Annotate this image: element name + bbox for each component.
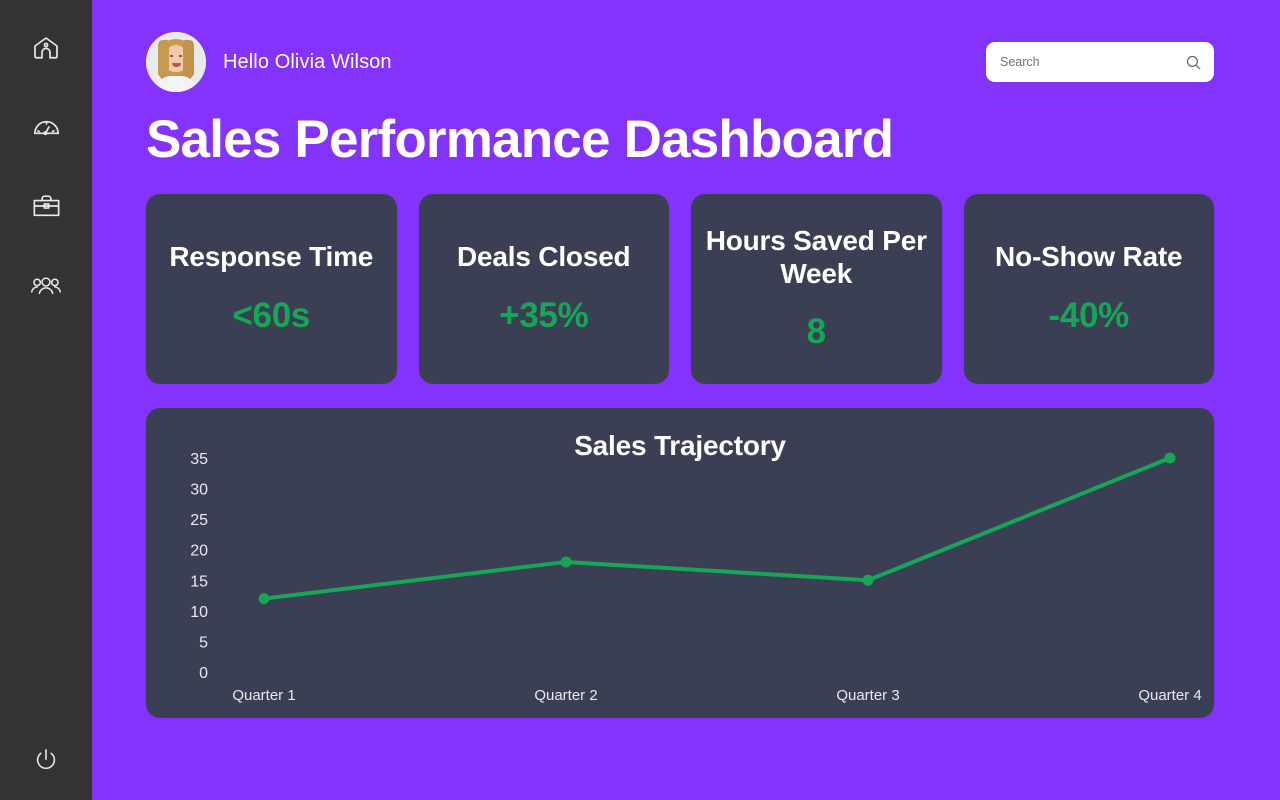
search-input[interactable]: [1000, 55, 1185, 69]
main-content: Hello Olivia Wilson Sales Performance Da…: [92, 0, 1280, 800]
stat-card-value: <60s: [232, 296, 310, 336]
stat-card-deals-closed: Deals Closed +35%: [419, 194, 670, 384]
search-box[interactable]: [986, 42, 1214, 82]
sales-trajectory-chart: Sales Trajectory 35302520151050Quarter 1…: [146, 408, 1214, 718]
avatar: [146, 32, 206, 92]
power-icon: [32, 746, 60, 774]
x-axis-tick: Quarter 2: [534, 687, 597, 704]
y-axis-tick: 30: [190, 481, 208, 498]
stat-card-hours-saved: Hours Saved Per Week 8: [691, 194, 942, 384]
y-axis-tick: 35: [190, 451, 208, 468]
y-axis-tick: 0: [199, 665, 208, 682]
chart-data-point[interactable]: [863, 574, 874, 585]
x-axis-tick: Quarter 1: [232, 687, 295, 704]
chart-data-point[interactable]: [259, 593, 270, 604]
sidebar-item-briefcase[interactable]: [24, 184, 68, 228]
x-axis-tick: Quarter 4: [1138, 687, 1201, 704]
y-axis-tick: 10: [190, 603, 208, 620]
app-root: Hello Olivia Wilson Sales Performance Da…: [0, 0, 1280, 800]
sidebar-item-dashboard[interactable]: [24, 105, 68, 149]
sidebar-nav: [24, 0, 68, 342]
topbar: Hello Olivia Wilson: [146, 0, 1214, 92]
x-axis-tick: Quarter 3: [836, 687, 899, 704]
sidebar-item-home[interactable]: [24, 26, 68, 70]
search-icon[interactable]: [1185, 54, 1202, 71]
y-axis-tick: 25: [190, 512, 208, 529]
stat-card-label: Hours Saved Per Week: [701, 225, 932, 290]
page-title: Sales Performance Dashboard: [146, 112, 1214, 168]
sidebar-item-logout[interactable]: [24, 738, 68, 782]
y-axis-tick: 15: [190, 573, 208, 590]
stat-card-label: Deals Closed: [457, 241, 630, 273]
sidebar-item-users[interactable]: [24, 263, 68, 307]
sidebar: [0, 0, 92, 800]
chart-data-point[interactable]: [1165, 452, 1176, 463]
greeting-text: Hello Olivia Wilson: [223, 51, 392, 74]
y-axis-tick: 5: [199, 634, 208, 651]
stat-card-no-show-rate: No-Show Rate -40%: [964, 194, 1215, 384]
chart-line: [264, 458, 1170, 599]
sidebar-bottom: [0, 738, 92, 782]
chart-plot: 35302520151050Quarter 1Quarter 2Quarter …: [146, 408, 1214, 718]
briefcase-icon: [31, 191, 62, 222]
stat-cards: Response Time <60s Deals Closed +35% Hou…: [146, 194, 1214, 384]
stat-card-value: 8: [807, 312, 826, 352]
stat-card-label: No-Show Rate: [995, 241, 1182, 273]
y-axis-tick: 20: [190, 542, 208, 559]
stat-card-value: -40%: [1048, 296, 1129, 336]
home-icon: [31, 33, 61, 63]
gauge-icon: [31, 112, 62, 143]
greeting-block: Hello Olivia Wilson: [146, 32, 392, 92]
users-icon: [30, 269, 62, 301]
stat-card-label: Response Time: [169, 241, 373, 273]
chart-data-point[interactable]: [561, 556, 572, 567]
stat-card-value: +35%: [499, 296, 588, 336]
stat-card-response-time: Response Time <60s: [146, 194, 397, 384]
